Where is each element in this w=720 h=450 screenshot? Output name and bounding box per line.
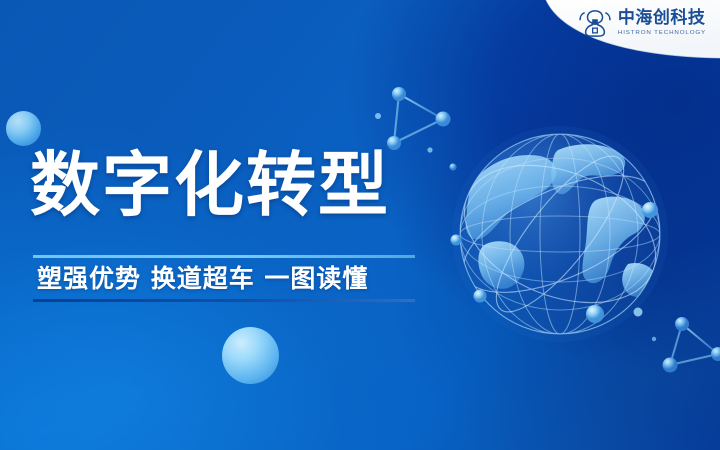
page-title: 数字化转型 xyxy=(0,150,460,220)
poster-canvas: 数字化转型 塑强优势 换道超车 一图读懂 xyxy=(0,0,720,450)
headline-block: 数字化转型 xyxy=(0,150,460,220)
node-network-bottom-right xyxy=(648,292,720,392)
sphere-decoration-top-left xyxy=(6,111,41,146)
subtitle-bar: 塑强优势 换道超车 一图读懂 xyxy=(33,255,415,302)
wireframe-globe-graphic xyxy=(442,116,682,356)
page-subtitle: 塑强优势 换道超车 一图读懂 xyxy=(33,258,415,299)
sphere-decoration-bottom-left xyxy=(222,327,279,384)
histron-logo-icon xyxy=(579,8,611,38)
brand-name-en: HISTRON TECHNOLOGY xyxy=(618,30,706,36)
brand-name-cn: 中海创科技 xyxy=(618,10,706,27)
brand-logo-text: 中海创科技 HISTRON TECHNOLOGY xyxy=(618,10,706,36)
subtitle-rule-bottom xyxy=(33,299,415,302)
brand-logo[interactable]: 中海创科技 HISTRON TECHNOLOGY xyxy=(579,8,706,38)
